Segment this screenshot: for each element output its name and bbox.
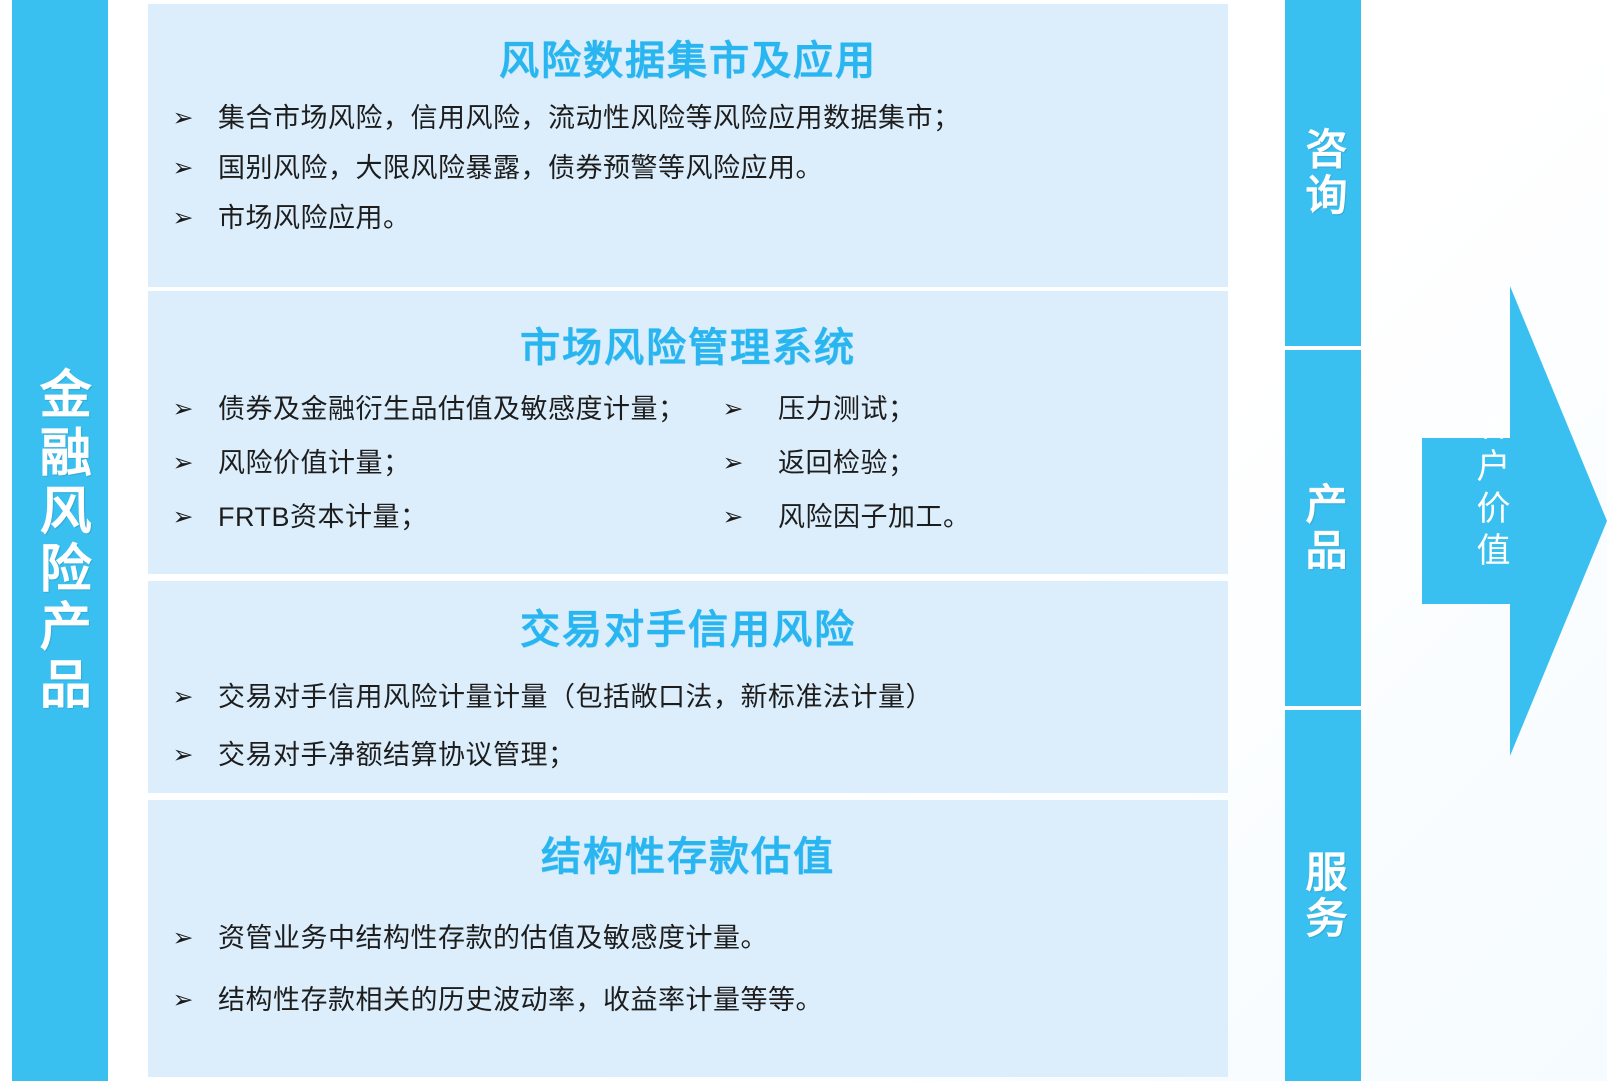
arrow-bullet-icon: ➢	[148, 501, 218, 532]
stage-block-consulting: 咨询	[1285, 0, 1361, 346]
bullet-list: ➢ 债券及金融衍生品估值及敏感度计量； ➢ 风险价值计量； ➢ FRTB资本计量…	[148, 373, 1228, 544]
section-title: 交易对手信用风险	[148, 581, 1228, 655]
list-item-label: 集合市场风险，信用风险，流动性风险等风险应用数据集市；	[218, 102, 961, 136]
customer-value-label: 客户价值	[1442, 406, 1508, 574]
bullet-list: ➢ 资管业务中结构性存款的估值及敏感度计量。 ➢ 结构性存款相关的历史波动率，收…	[148, 882, 1228, 1032]
arrow-bullet-icon: ➢	[148, 202, 218, 233]
arrow-bullet-icon: ➢	[148, 102, 218, 133]
stage-block-service: 服务	[1285, 710, 1361, 1081]
arrow-bullet-icon: ➢	[148, 152, 218, 183]
list-item: ➢ 交易对手净额结算协议管理；	[148, 727, 1228, 785]
section-counterparty-credit-risk: 交易对手信用风险 ➢ 交易对手信用风险计量计量（包括敞口法，新标准法计量） ➢ …	[148, 581, 1228, 793]
list-item-label: 资管业务中结构性存款的估值及敏感度计量。	[218, 922, 768, 956]
list-item-label: 压力测试；	[778, 393, 916, 427]
list-item: ➢ 集合市场风险，信用风险，流动性风险等风险应用数据集市；	[148, 94, 1228, 144]
list-item-label: 风险价值计量；	[218, 447, 411, 481]
left-category-bar: 金融风险产品	[12, 0, 108, 1081]
list-item: ➢ 结构性存款相关的历史波动率，收益率计量等等。	[148, 970, 1228, 1032]
section-structured-deposit-valuation: 结构性存款估值 ➢ 资管业务中结构性存款的估值及敏感度计量。 ➢ 结构性存款相关…	[148, 800, 1228, 1077]
bullet-column-left: ➢ 债券及金融衍生品估值及敏感度计量； ➢ 风险价值计量； ➢ FRTB资本计量…	[148, 383, 688, 544]
section-title: 风险数据集市及应用	[148, 4, 1228, 86]
list-item-label: 风险因子加工。	[778, 501, 971, 535]
list-item: ➢ FRTB资本计量；	[148, 491, 688, 545]
arrow-bullet-icon: ➢	[148, 393, 218, 424]
section-title: 市场风险管理系统	[148, 291, 1228, 373]
stage-column: 咨询 产品 服务	[1285, 0, 1361, 1081]
list-item: ➢ 返回检验；	[688, 437, 1228, 491]
list-item: ➢ 国别风险，大限风险暴露，债券预警等风险应用。	[148, 144, 1228, 194]
customer-value-arrow: 客户价值	[1418, 278, 1607, 764]
arrow-bullet-icon: ➢	[148, 984, 218, 1015]
section-risk-data-mart: 风险数据集市及应用 ➢ 集合市场风险，信用风险，流动性风险等风险应用数据集市； …	[148, 4, 1228, 287]
diagram-canvas: 金融风险产品 风险数据集市及应用 ➢ 集合市场风险，信用风险，流动性风险等风险应…	[0, 0, 1607, 1081]
stage-block-product: 产品	[1285, 350, 1361, 706]
list-item-label: FRTB资本计量；	[218, 501, 428, 535]
list-item-label: 交易对手信用风险计量计量（包括敞口法，新标准法计量）	[218, 681, 933, 715]
section-market-risk-system: 市场风险管理系统 ➢ 债券及金融衍生品估值及敏感度计量； ➢ 风险价值计量； ➢…	[148, 291, 1228, 574]
bullet-column-right: ➢ 压力测试； ➢ 返回检验； ➢ 风险因子加工。	[688, 383, 1228, 544]
arrow-bullet-icon: ➢	[688, 393, 778, 424]
list-item: ➢ 风险价值计量；	[148, 437, 688, 491]
list-item: ➢ 压力测试；	[688, 383, 1228, 437]
stage-block-label: 咨询	[1301, 127, 1345, 219]
arrow-bullet-icon: ➢	[148, 922, 218, 953]
list-item: ➢ 交易对手信用风险计量计量（包括敞口法，新标准法计量）	[148, 669, 1228, 727]
list-item: ➢ 资管业务中结构性存款的估值及敏感度计量。	[148, 908, 1228, 970]
arrow-bullet-icon: ➢	[688, 447, 778, 478]
arrow-bullet-icon: ➢	[148, 681, 218, 712]
list-item: ➢ 债券及金融衍生品估值及敏感度计量；	[148, 383, 688, 437]
list-item-label: 结构性存款相关的历史波动率，收益率计量等等。	[218, 984, 823, 1018]
arrow-bullet-icon: ➢	[688, 501, 778, 532]
list-item: ➢ 市场风险应用。	[148, 194, 1228, 244]
stage-block-label: 服务	[1301, 850, 1345, 942]
stage-block-label: 产品	[1301, 482, 1345, 574]
arrow-bullet-icon: ➢	[148, 739, 218, 770]
list-item-label: 市场风险应用。	[218, 202, 411, 236]
left-category-label: 金融风险产品	[33, 367, 88, 715]
list-item: ➢ 风险因子加工。	[688, 491, 1228, 545]
sections-column: 风险数据集市及应用 ➢ 集合市场风险，信用风险，流动性风险等风险应用数据集市； …	[148, 0, 1228, 1081]
list-item-label: 国别风险，大限风险暴露，债券预警等风险应用。	[218, 152, 823, 186]
list-item-label: 交易对手净额结算协议管理；	[218, 739, 576, 773]
arrow-bullet-icon: ➢	[148, 447, 218, 478]
list-item-label: 债券及金融衍生品估值及敏感度计量；	[218, 393, 686, 427]
bullet-list: ➢ 集合市场风险，信用风险，流动性风险等风险应用数据集市； ➢ 国别风险，大限风…	[148, 86, 1228, 243]
list-item-label: 返回检验；	[778, 447, 916, 481]
section-title: 结构性存款估值	[148, 800, 1228, 882]
bullet-list: ➢ 交易对手信用风险计量计量（包括敞口法，新标准法计量） ➢ 交易对手净额结算协…	[148, 655, 1228, 785]
